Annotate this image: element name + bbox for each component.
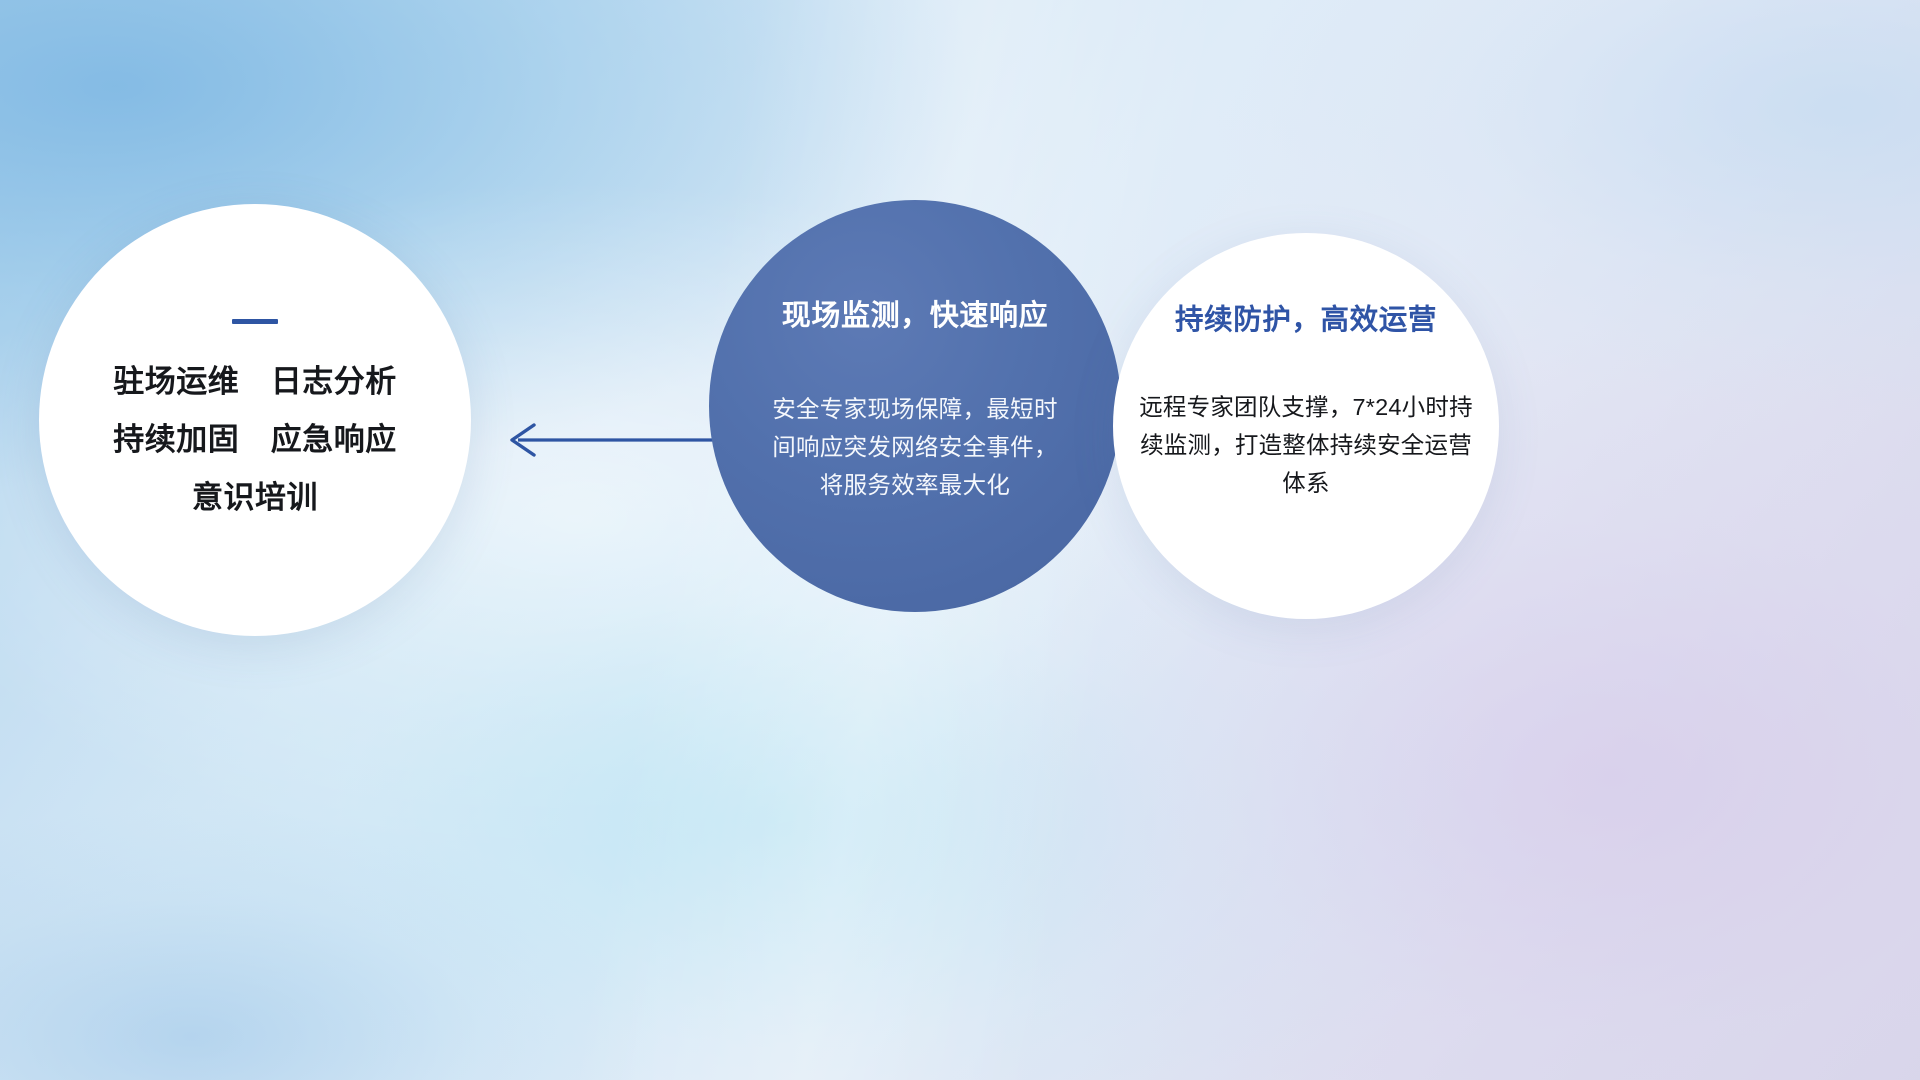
- title-divider-dash: [232, 319, 278, 324]
- center-onsite-monitoring-circle[interactable]: 现场监测，快速响应 安全专家现场保障，最短时间响应突发网络安全事件，将服务效率最…: [709, 200, 1121, 612]
- center-circle-body: 安全专家现场保障，最短时间响应突发网络安全事件，将服务效率最大化: [771, 390, 1059, 504]
- right-continuous-protection-circle[interactable]: 持续防护，高效运营 远程专家团队支撑，7*24小时持续监测，打造整体持续安全运营…: [1113, 233, 1499, 619]
- left-capability-circle[interactable]: 驻场运维 日志分析 持续加固 应急响应 意识培训: [39, 204, 471, 636]
- capability-list: 驻场运维 日志分析 持续加固 应急响应 意识培训: [113, 366, 397, 513]
- center-circle-title: 现场监测，快速响应: [782, 292, 1048, 334]
- diagram-canvas: 驻场运维 日志分析 持续加固 应急响应 意识培训 现场监测，快速响应 安全专家现…: [0, 0, 1920, 1080]
- capability-line-1: 驻场运维 日志分析: [113, 366, 397, 397]
- right-circle-body: 远程专家团队支撑，7*24小时持续监测，打造整体持续安全运营体系: [1131, 388, 1481, 502]
- capability-line-3: 意识培训: [113, 482, 397, 513]
- capability-line-2: 持续加固 应急响应: [113, 424, 397, 455]
- right-circle-title: 持续防护，高效运营: [1175, 297, 1437, 338]
